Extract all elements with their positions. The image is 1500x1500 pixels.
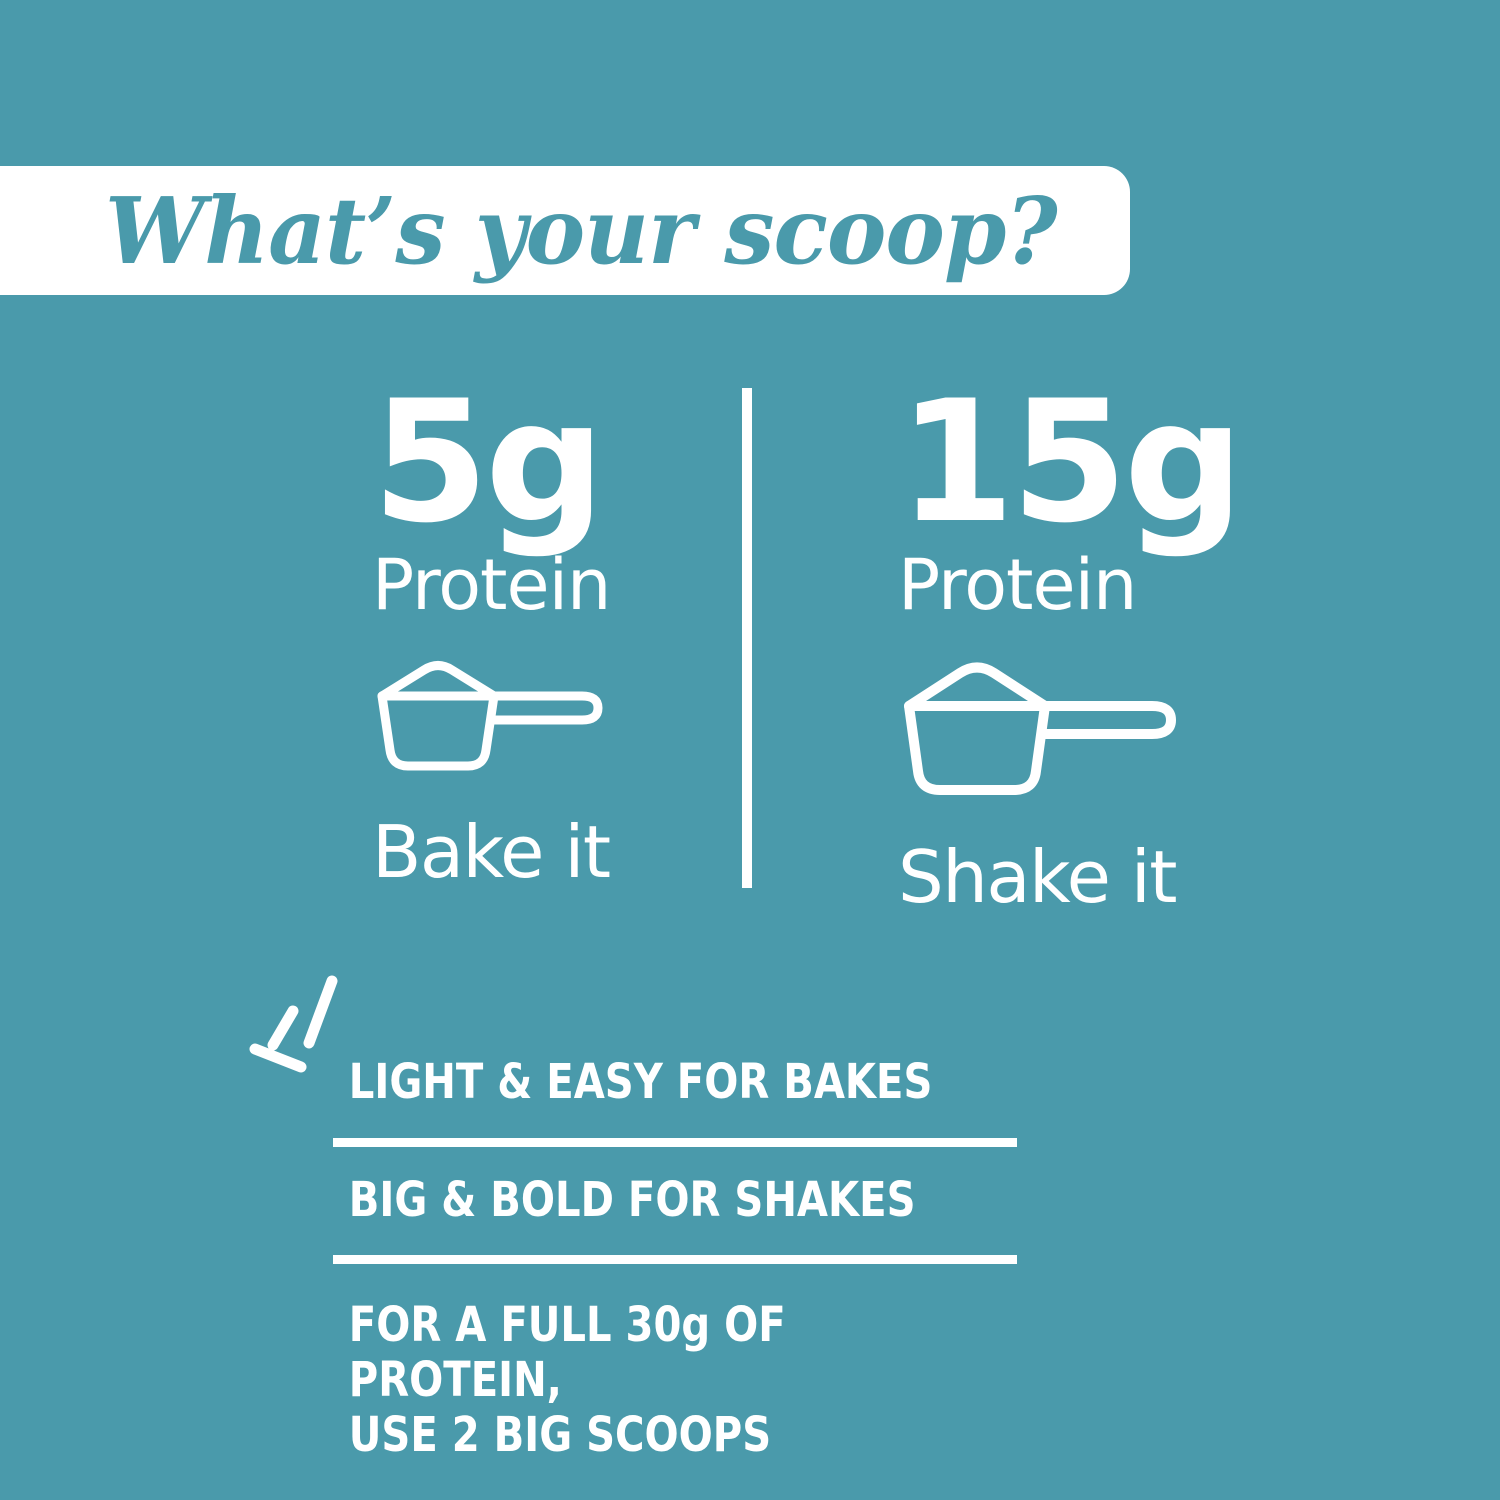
stat-label-bake: Protein [372,549,610,623]
highlight-item: BIG & BOLD FOR SHAKES [333,1173,969,1228]
stat-column-bake: 5g Protein Bake it [372,380,732,888]
highlight-divider [333,1255,1017,1264]
highlight-divider [333,1138,1017,1147]
stat-action-shake: Shake it [898,841,1176,913]
page-title: What’s your scoop? [105,185,1057,277]
highlight-item: FOR A FULL 30g OF PROTEIN, USE 2 BIG SCO… [333,1298,969,1462]
scoop-icon-small [376,656,606,776]
stat-label-shake: Protein [898,549,1136,623]
column-divider [742,388,752,888]
highlight-item: LIGHT & EASY FOR BAKES [333,1055,969,1110]
infographic-canvas: What’s your scoop? 5g Protein Bake it 15… [0,0,1500,1500]
scoop-icon-large [902,656,1180,801]
stats-row: 5g Protein Bake it 15g Protein [0,380,1500,890]
highlights-list: LIGHT & EASY FOR BAKES BIG & BOLD FOR SH… [333,1055,1017,1463]
header-banner: What’s your scoop? [0,166,1130,295]
stat-amount-bake: 5g [372,380,601,545]
stat-action-bake: Bake it [372,816,610,888]
stat-column-shake: 15g Protein Shake it [898,380,1258,913]
stat-amount-shake: 15g [898,380,1240,545]
